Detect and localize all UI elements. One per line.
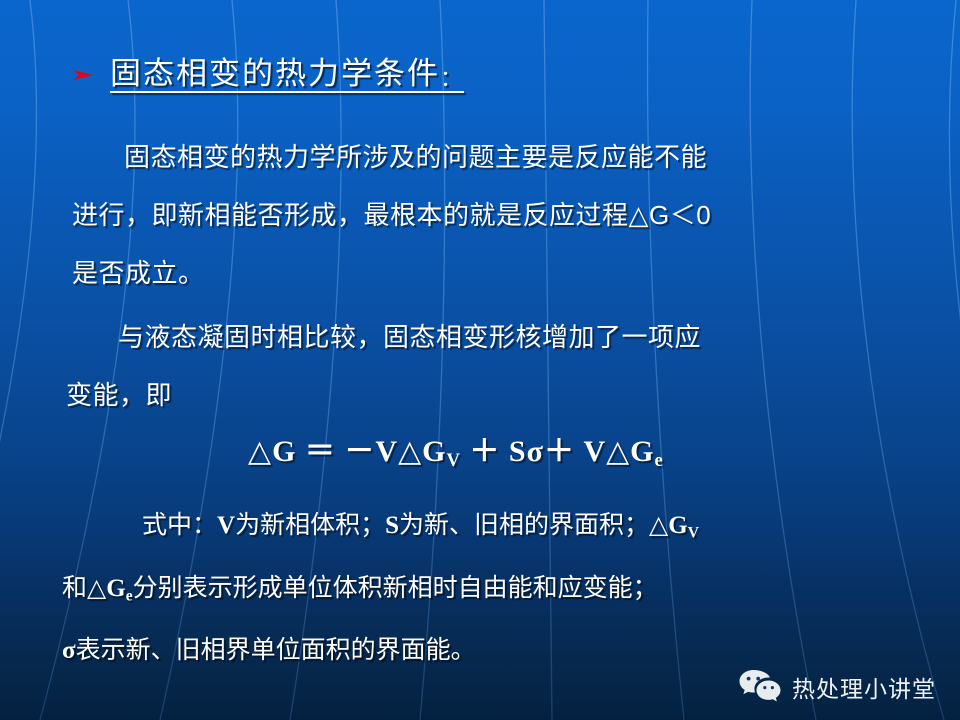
symbol-s: S [385, 512, 399, 539]
paragraph-1-line-2: 进行，即新相能否形成，最根本的就是反应过程△G＜0 [72, 186, 960, 244]
explanation-text-2: 为新、旧相的界面积； [399, 511, 649, 539]
explanation-text-4: 表示新、旧相界单位面积的界面能。 [76, 636, 476, 664]
symbol-delta-ge-base: △G [87, 575, 126, 602]
symbol-sigma: σ [62, 637, 76, 664]
explanation-line-2: 和△Ge分别表示形成单位体积新相时自由能和应变能； [0, 561, 960, 623]
explanation-conjunction: 和 [62, 574, 87, 602]
paragraph-2-line-2: 变能，即 [66, 366, 960, 424]
formula-explanation: 式中：V为新相体积；S为新、旧相的界面积；△GV 和△Ge分别表示形成单位体积新… [0, 498, 960, 678]
red-arrow-bullet-icon [70, 62, 96, 88]
page-title: 固态相变的热力学条件： [110, 48, 464, 93]
wechat-logo-icon [738, 668, 782, 706]
page-title-colon: ： [440, 66, 464, 91]
explanation-text-1: 为新相体积； [235, 511, 385, 539]
slide-body: 固态相变的热力学所涉及的问题主要是反应能不能 进行，即新相能否形成，最根本的就是… [0, 128, 960, 678]
paragraph-1: 固态相变的热力学所涉及的问题主要是反应能不能 进行，即新相能否形成，最根本的就是… [0, 128, 960, 302]
paragraph-2-line-1: 与液态凝固时相比较，固态相变形核增加了一项应 [66, 308, 960, 366]
symbol-delta-ge: △Ge [87, 575, 133, 602]
formula-plus-2: ＋ [544, 435, 575, 468]
paragraph-1-line-3: 是否成立。 [72, 244, 960, 302]
formula-plus-1: ＋ [469, 435, 500, 468]
formula-term-1-subscript: V [446, 450, 460, 471]
symbol-delta-gv-base: △G [649, 512, 688, 539]
formula-term-2: Sσ [509, 435, 544, 468]
formula-term-1: －V△G [344, 435, 446, 468]
paragraph-1-line-1: 固态相变的热力学所涉及的问题主要是反应能不能 [72, 128, 960, 186]
formula-equals: ＝ [305, 435, 336, 468]
slide-title-row: 固态相变的热力学条件： [70, 48, 464, 93]
explanation-line-1: 式中：V为新相体积；S为新、旧相的界面积；△GV [0, 498, 960, 560]
symbol-delta-gv-subscript: V [688, 525, 699, 542]
formula-term-3: V△G [583, 435, 654, 468]
explanation-text-3: 分别表示形成单位体积新相时自由能和应变能； [133, 574, 658, 602]
paragraph-2: 与液态凝固时相比较，固态相变形核增加了一项应 变能，即 [0, 308, 960, 424]
formula-delta-g: △G ＝ －V△GV ＋ Sσ＋ V△Ge [0, 426, 960, 472]
symbol-v: V [217, 512, 235, 539]
watermark: 热处理小讲堂 [738, 668, 936, 706]
explanation-prefix: 式中： [142, 511, 217, 539]
formula-lhs: △G [248, 435, 296, 468]
formula-term-3-subscript: e [655, 450, 664, 471]
page-title-text: 固态相变的热力学条件 [110, 56, 440, 91]
symbol-delta-ge-subscript: e [126, 587, 133, 604]
presentation-slide: 固态相变的热力学条件： 固态相变的热力学所涉及的问题主要是反应能不能 进行，即新… [0, 0, 960, 720]
symbol-delta-gv: △GV [649, 512, 699, 539]
watermark-text: 热处理小讲堂 [792, 670, 936, 704]
